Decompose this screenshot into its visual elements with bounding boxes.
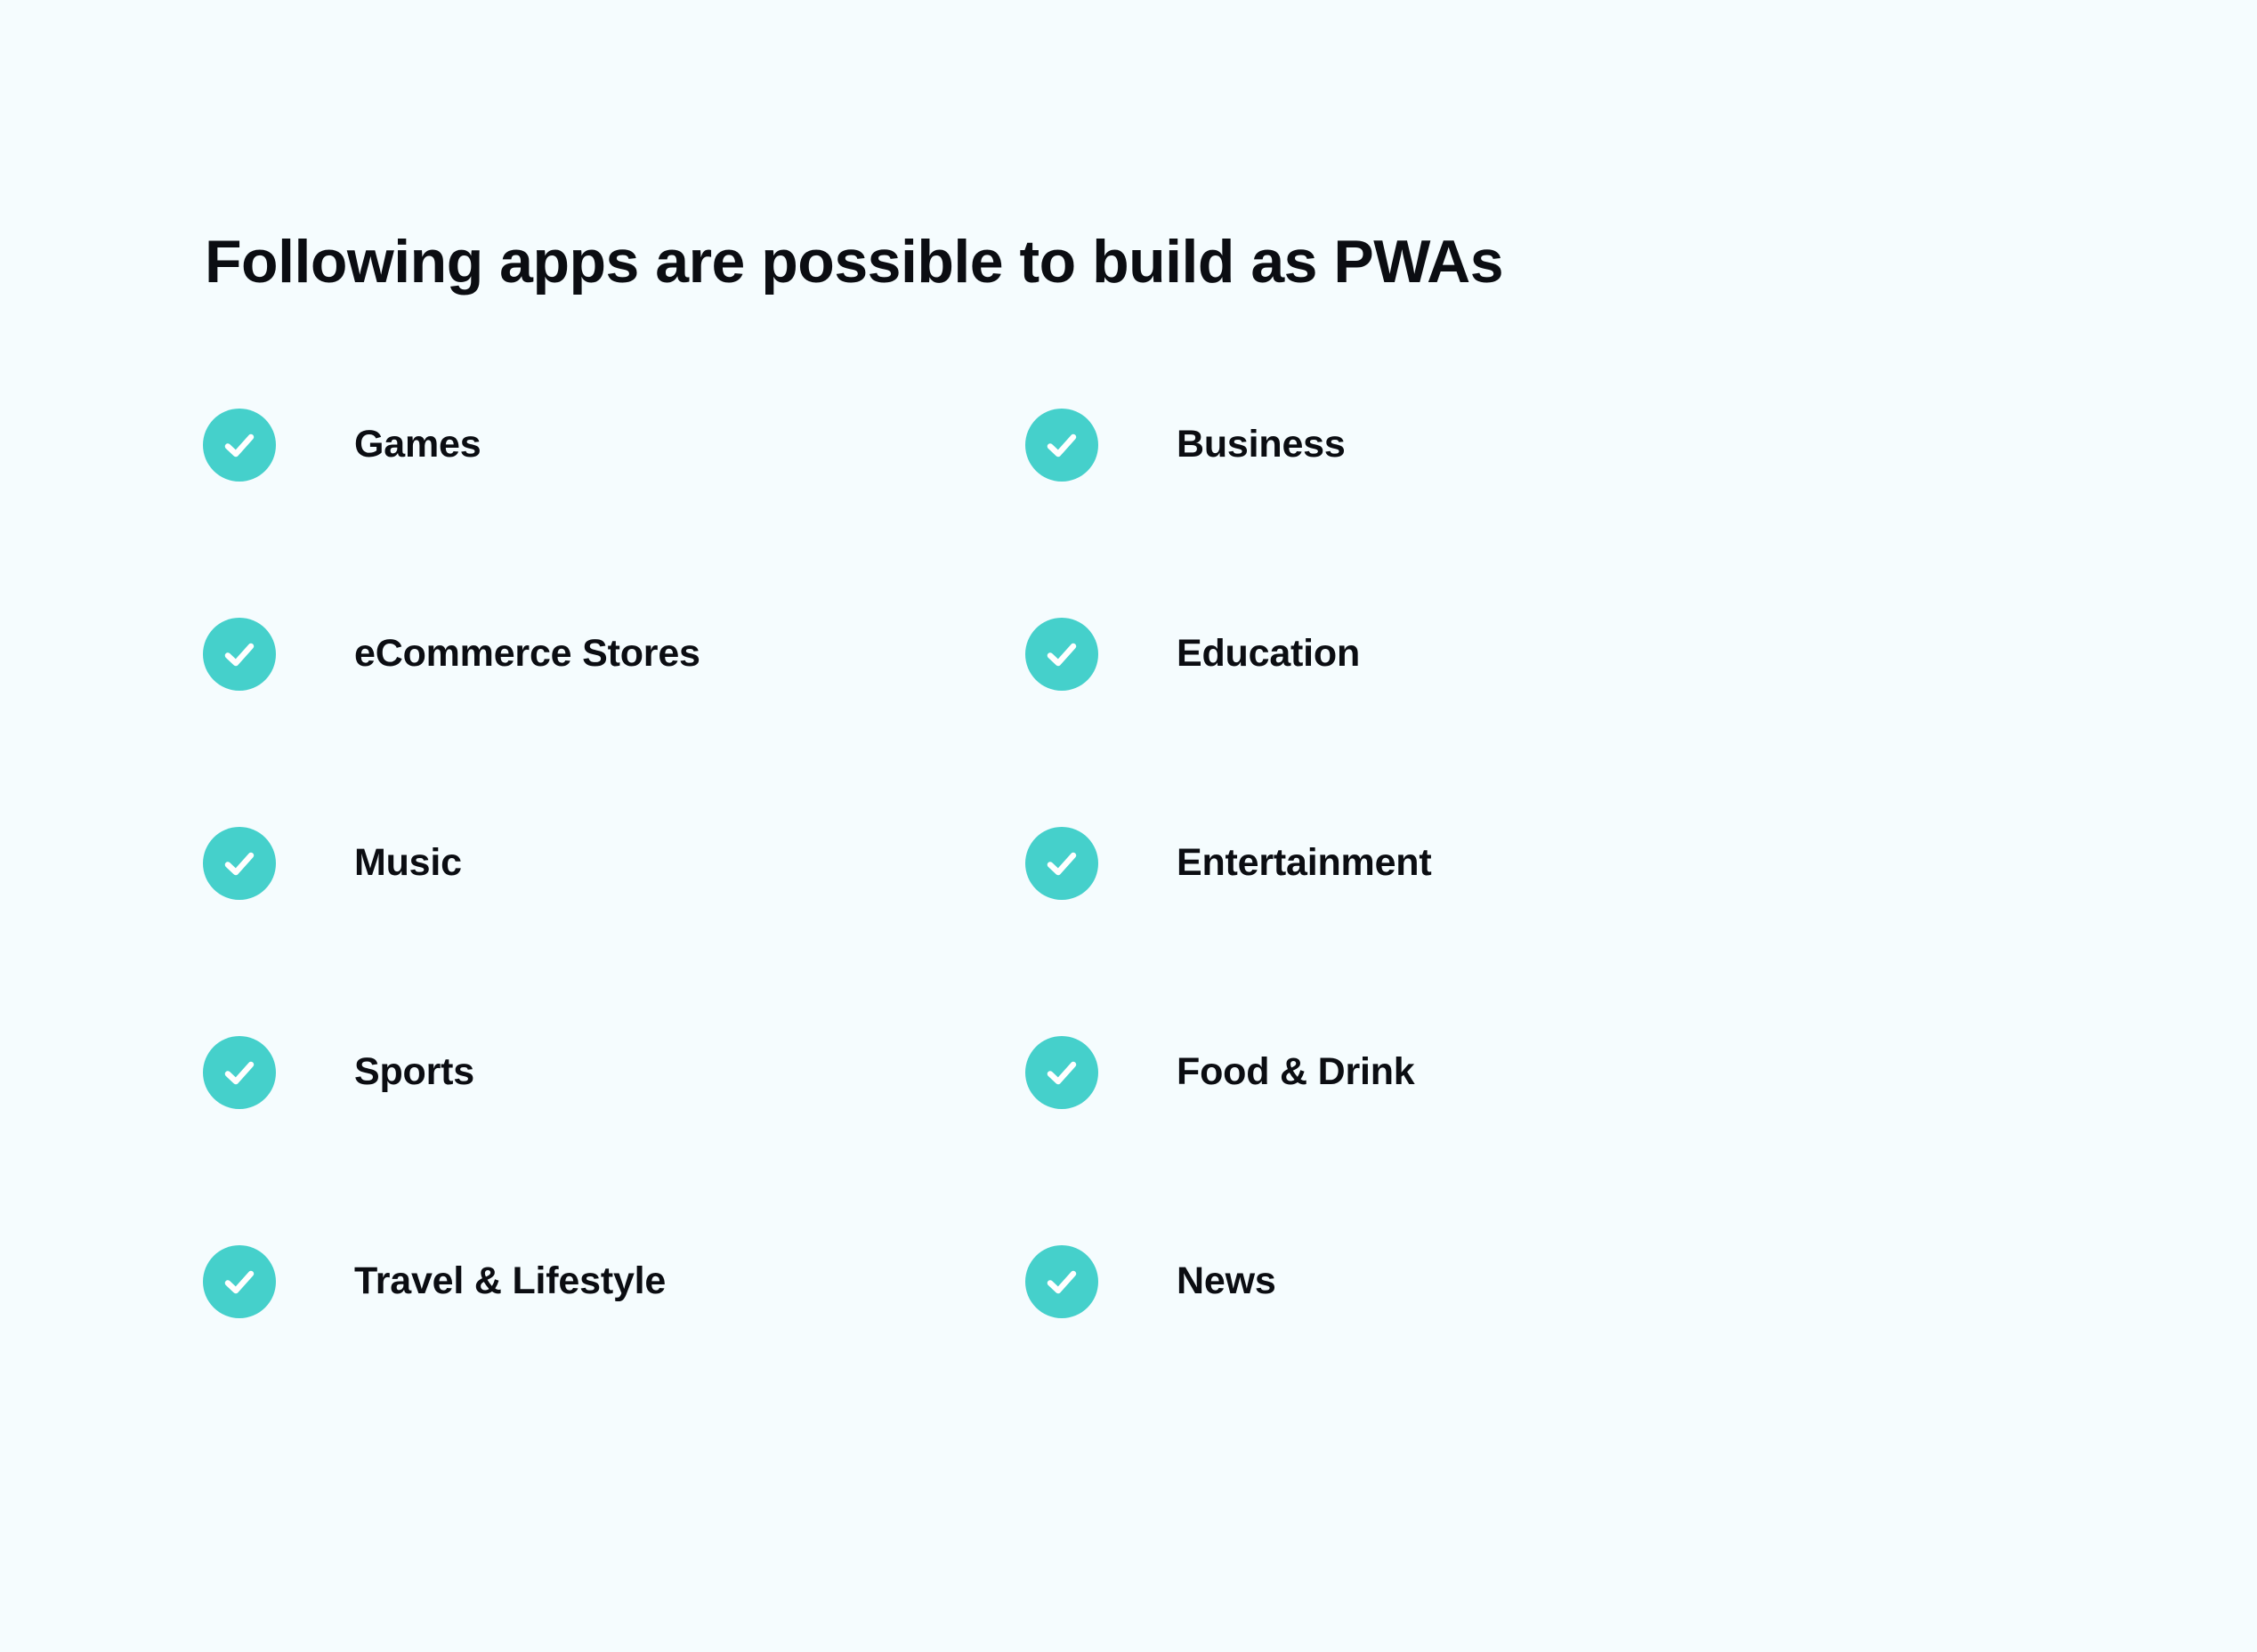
check-circle-icon <box>203 409 276 482</box>
check-circle-icon <box>1025 827 1098 900</box>
list-item: eCommerce Stores <box>203 606 1025 702</box>
list-item: Sports <box>203 1024 1025 1121</box>
page-title: Following apps are possible to build as … <box>205 219 2118 304</box>
list-item-label: eCommerce Stores <box>354 633 700 675</box>
list-item-label: Sports <box>354 1051 474 1093</box>
list-item-label: Business <box>1177 424 1346 466</box>
list-item-label: Entertainment <box>1177 842 1432 884</box>
list-item: Education <box>1025 606 1848 702</box>
list-item: Travel & Lifestyle <box>203 1234 1025 1330</box>
slide-canvas: Following apps are possible to build as … <box>0 0 2257 1652</box>
list-item: Entertainment <box>1025 815 1848 911</box>
check-circle-icon <box>1025 618 1098 691</box>
list-item: Games <box>203 397 1025 493</box>
check-circle-icon <box>203 618 276 691</box>
list-item: Music <box>203 815 1025 911</box>
check-circle-icon <box>1025 409 1098 482</box>
list-item: Business <box>1025 397 1848 493</box>
list-item-label: Education <box>1177 633 1360 675</box>
check-circle-icon <box>1025 1245 1098 1318</box>
check-circle-icon <box>203 1245 276 1318</box>
check-circle-icon <box>203 1036 276 1109</box>
list-item-label: Food & Drink <box>1177 1051 1415 1093</box>
check-circle-icon <box>203 827 276 900</box>
list-item-label: Travel & Lifestyle <box>354 1260 666 1302</box>
checklist-grid: Games Business eCommerce Stores <box>203 397 2036 1443</box>
list-item-label: Games <box>354 424 481 466</box>
list-item-label: Music <box>354 842 462 884</box>
list-item: News <box>1025 1234 1848 1330</box>
list-item-label: News <box>1177 1260 1276 1302</box>
check-circle-icon <box>1025 1036 1098 1109</box>
list-item: Food & Drink <box>1025 1024 1848 1121</box>
